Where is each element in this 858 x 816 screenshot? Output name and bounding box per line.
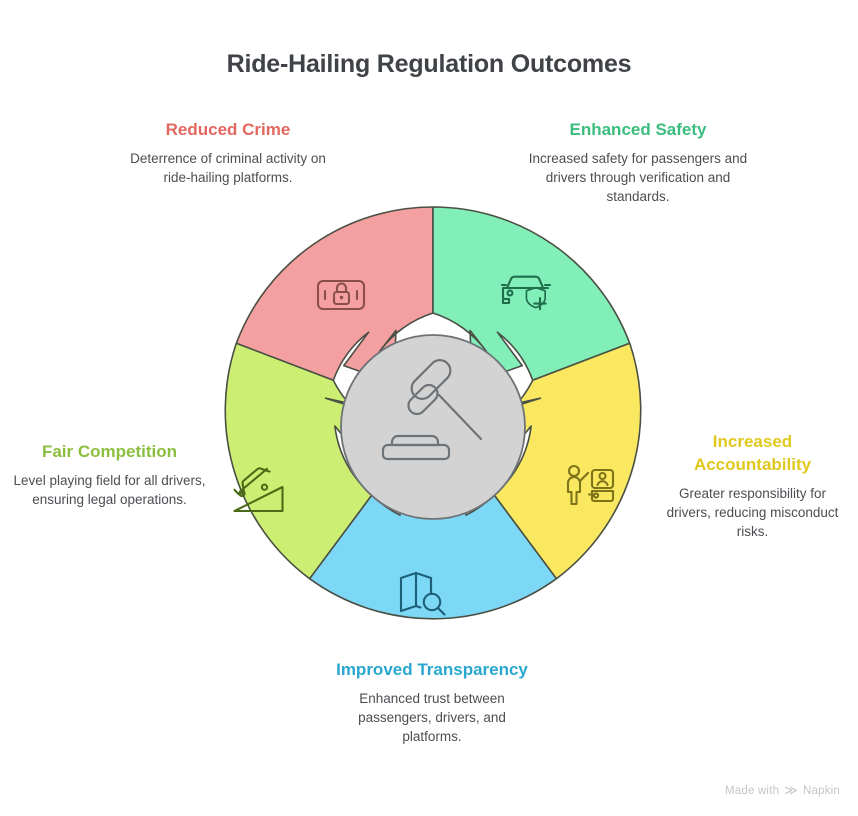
label-desc-fair-competition: Level playing field for all drivers, ens… xyxy=(8,471,211,509)
label-desc-reduced-crime: Deterrence of criminal activity on ride-… xyxy=(120,149,336,187)
label-desc-enhanced-safety: Increased safety for passengers and driv… xyxy=(528,149,748,206)
label-title-reduced-crime: Reduced Crime xyxy=(120,119,336,142)
wheel-diagram xyxy=(213,197,653,657)
napkin-logo-icon: ≫ xyxy=(784,784,798,797)
page-title: Ride-Hailing Regulation Outcomes xyxy=(0,50,858,79)
label-block-reduced-crime: Reduced Crime Deterrence of criminal act… xyxy=(120,119,336,187)
watermark-prefix: Made with xyxy=(725,785,779,797)
label-block-fair-competition: Fair Competition Level playing field for… xyxy=(8,441,211,509)
label-block-increased-accountability: Increased Accountability Greater respons… xyxy=(655,431,850,541)
label-block-enhanced-safety: Enhanced Safety Increased safety for pas… xyxy=(528,119,748,206)
label-desc-increased-accountability: Greater responsibility for drivers, redu… xyxy=(655,484,850,541)
label-block-improved-transparency: Improved Transparency Enhanced trust bet… xyxy=(332,659,532,746)
label-title-increased-accountability: Increased Accountability xyxy=(655,431,850,477)
napkin-watermark: Made with ≫ Napkin xyxy=(725,784,840,797)
wheel-svg xyxy=(213,197,653,657)
watermark-brand: Napkin xyxy=(803,785,840,797)
label-title-improved-transparency: Improved Transparency xyxy=(332,659,532,682)
infographic-page: Ride-Hailing Regulation Outcomes xyxy=(0,0,858,816)
label-desc-improved-transparency: Enhanced trust between passengers, drive… xyxy=(332,689,532,746)
label-title-enhanced-safety: Enhanced Safety xyxy=(528,119,748,142)
label-title-fair-competition: Fair Competition xyxy=(8,441,211,464)
